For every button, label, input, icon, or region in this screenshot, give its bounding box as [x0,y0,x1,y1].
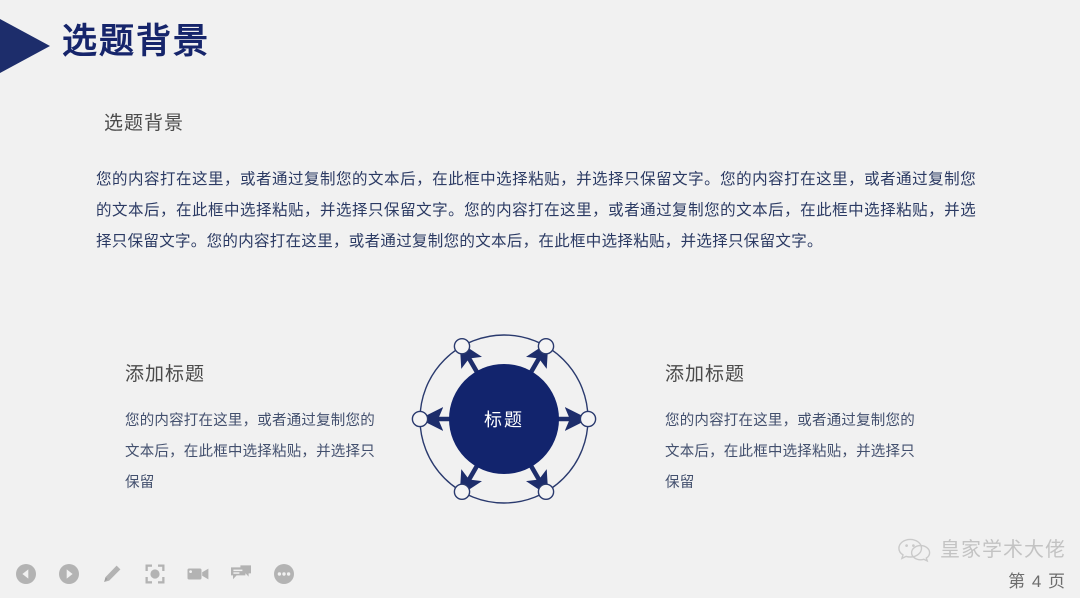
radial-hub-diagram: 标题 [395,310,613,528]
block-left-heading: 添加标题 [125,362,375,388]
content-block-right: 添加标题 您的内容打在这里，或者通过复制您的文本后，在此框中选择粘贴，并选择只保… [665,362,915,499]
video-camera-icon[interactable] [186,562,210,586]
page-title: 选题背景 [62,16,210,68]
block-right-heading: 添加标题 [665,362,915,388]
page-number: 第 4 页 [1008,567,1066,592]
previous-icon[interactable] [14,562,38,586]
watermark: 皇家学术大佬 [897,536,1066,564]
intro-heading: 选题背景 [104,110,184,138]
comment-icon[interactable] [229,562,253,586]
block-right-body: 您的内容打在这里，或者通过复制您的文本后，在此框中选择粘贴，并选择只保留 [665,406,915,499]
wechat-icon [897,536,931,564]
pencil-icon[interactable] [100,562,124,586]
intro-paragraph: 您的内容打在这里，或者通过复制您的文本后，在此框中选择粘贴，并选择只保留文字。您… [96,164,976,257]
content-block-left: 添加标题 您的内容打在这里，或者通过复制您的文本后，在此框中选择粘贴，并选择只保… [125,362,375,499]
slide-canvas: 选题背景 选题背景 您的内容打在这里，或者通过复制您的文本后，在此框中选择粘贴，… [0,0,1080,598]
hub-circle [449,364,559,474]
bottom-toolbar[interactable] [14,562,296,586]
watermark-text: 皇家学术大佬 [940,538,1066,562]
focus-icon[interactable] [143,562,167,586]
more-icon[interactable] [272,562,296,586]
title-arrow-icon [0,19,50,73]
next-icon[interactable] [57,562,81,586]
slide-header: 选题背景 [0,8,560,74]
block-left-body: 您的内容打在这里，或者通过复制您的文本后，在此框中选择粘贴，并选择只保留 [125,406,375,499]
